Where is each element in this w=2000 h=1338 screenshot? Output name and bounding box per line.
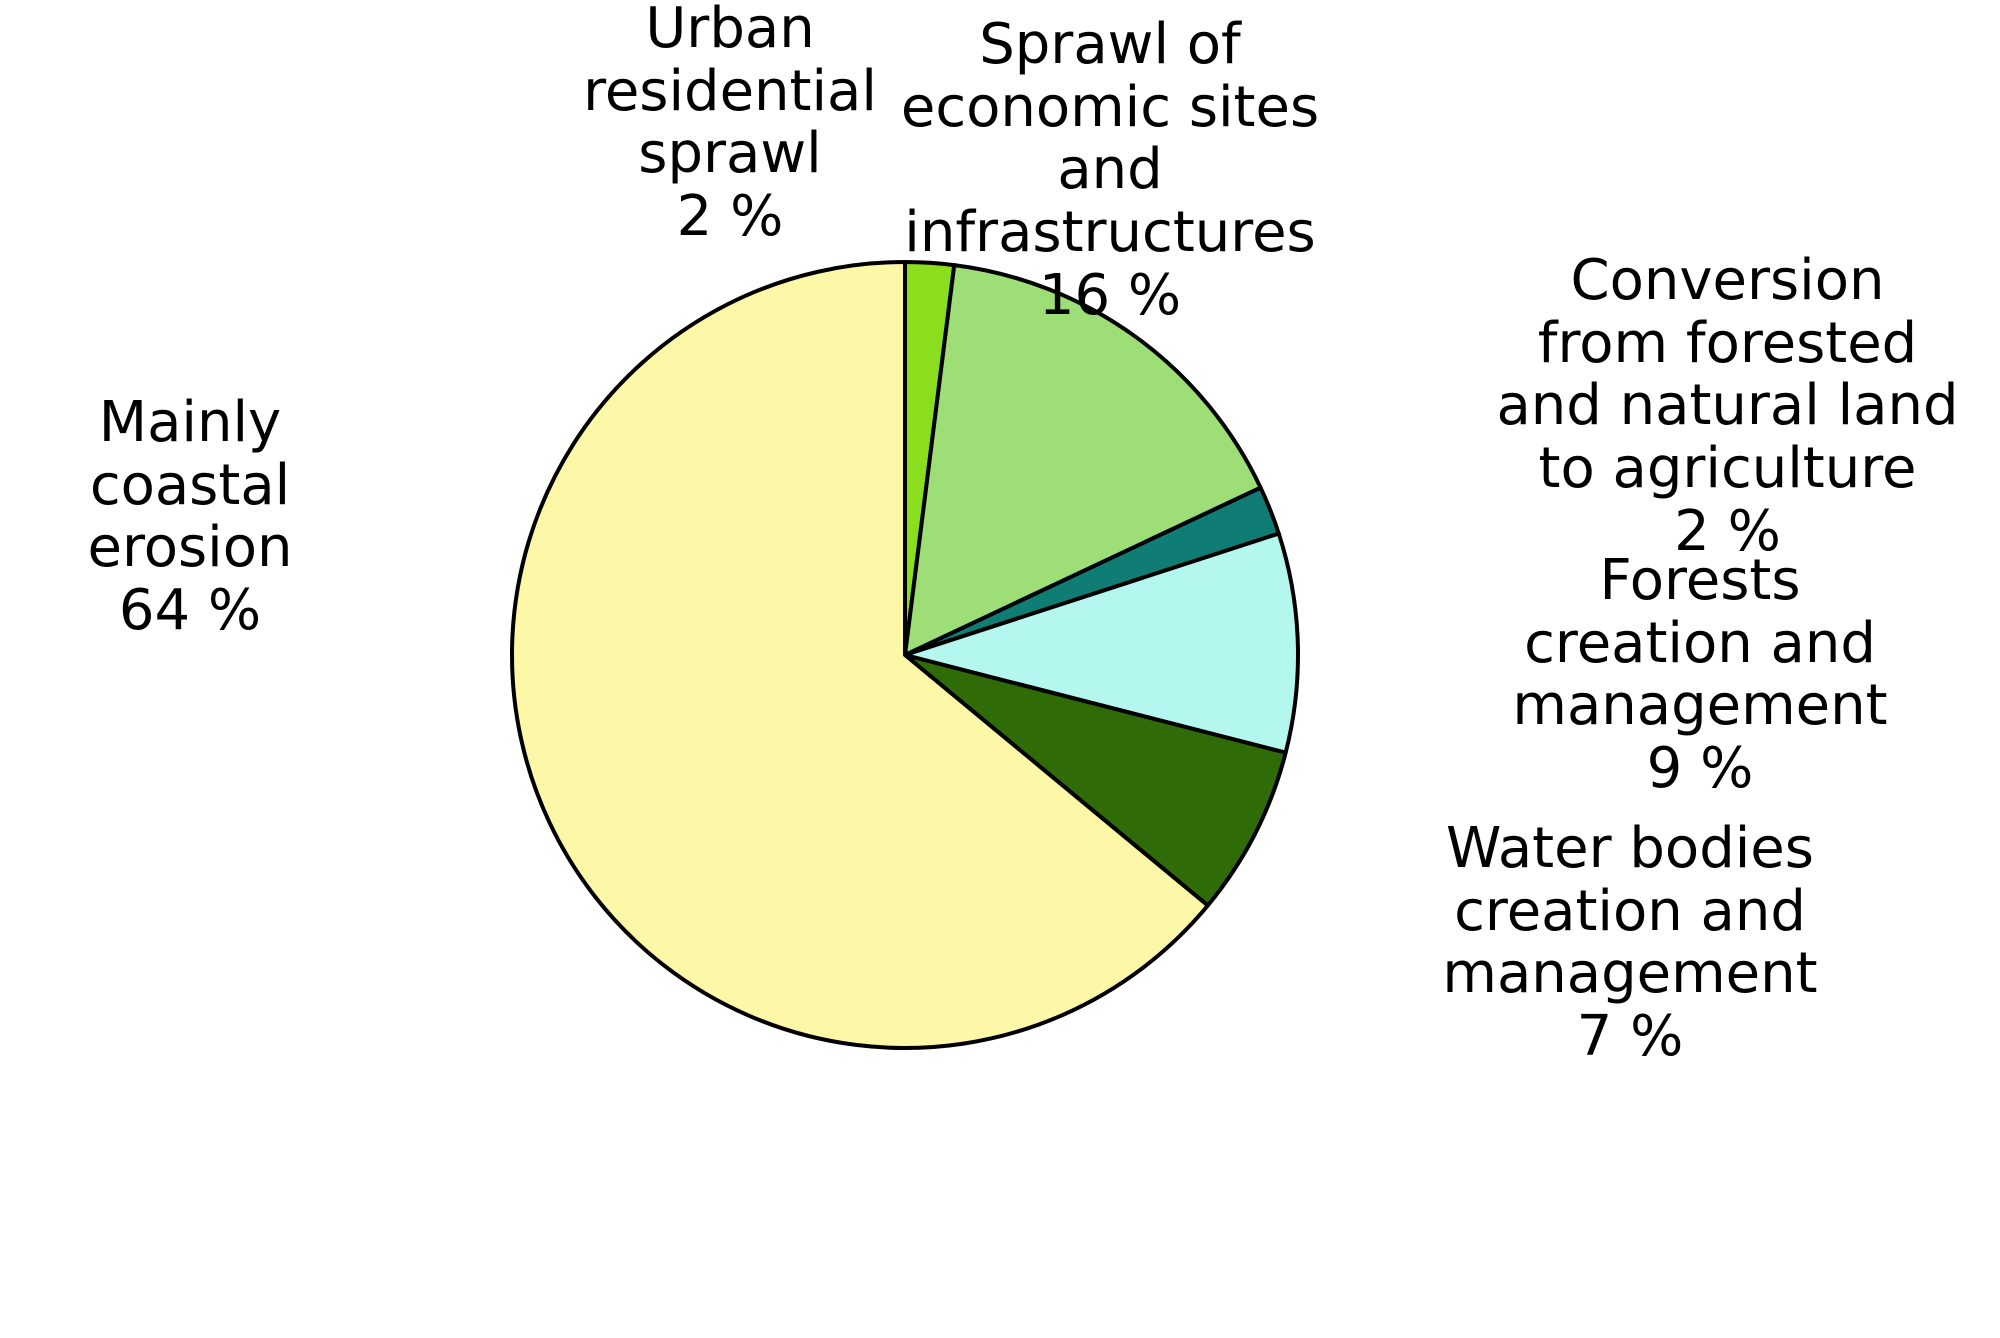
pie-label-conversion-to-agriculture: Conversion from forested and natural lan… (1455, 250, 2000, 564)
pie-chart-figure: Urban residential sprawl 2 % Sprawl of e… (0, 0, 2000, 1338)
pie-label-mainly-coastal-erosion: Mainly coastal erosion 64 % (0, 392, 390, 643)
pie-label-sprawl-economic-sites: Sprawl of economic sites and infrastruct… (845, 14, 1375, 328)
pie-slice-group (512, 262, 1298, 1048)
pie-label-water-bodies-creation-management: Water bodies creation and management 7 % (1360, 818, 1900, 1069)
pie-label-forests-creation-management: Forests creation and management 9 % (1440, 550, 1960, 801)
